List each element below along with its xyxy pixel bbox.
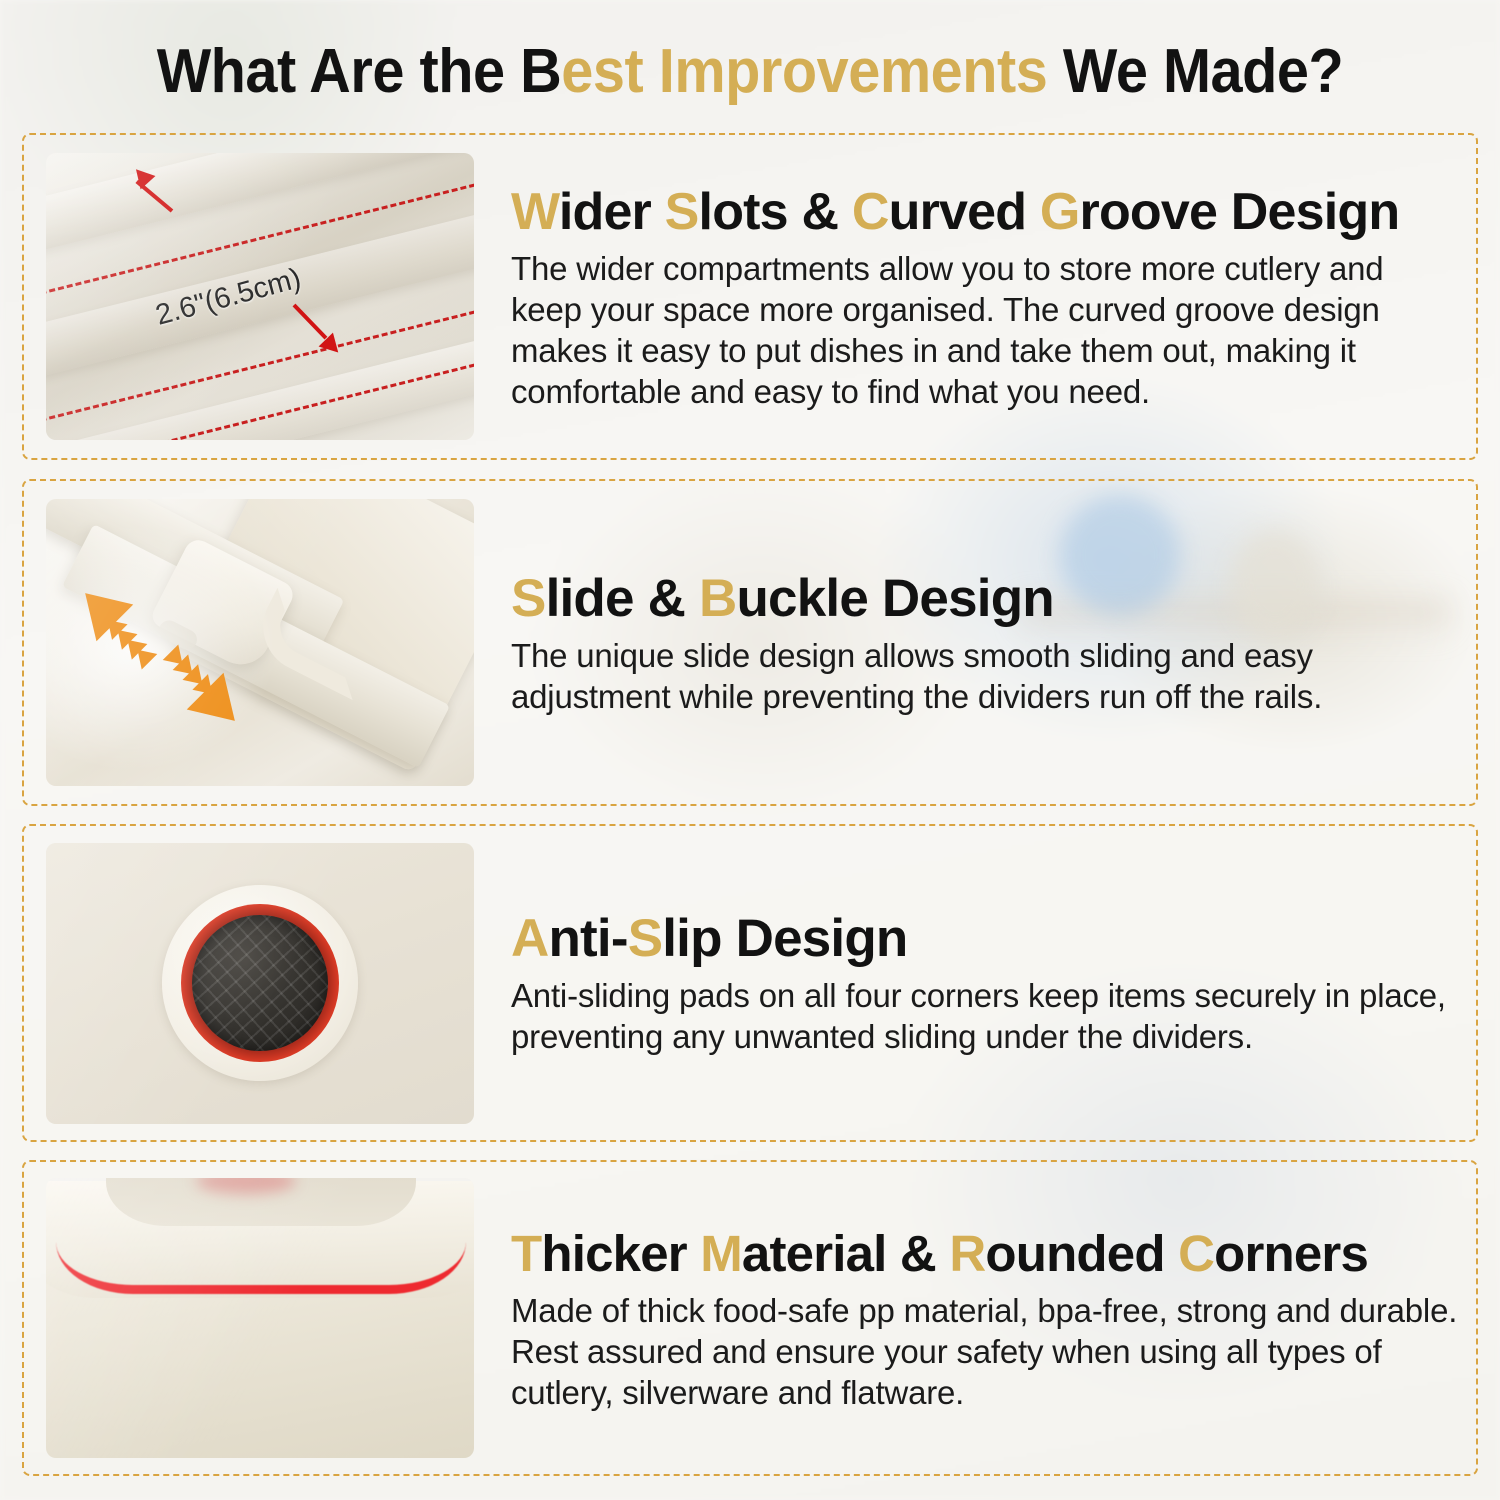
page-title-part-2: est Improvements	[561, 37, 1047, 106]
rounded-corner-illustration	[46, 1178, 474, 1458]
heading-text: orners	[1214, 1225, 1368, 1282]
heading-initial: S	[628, 909, 663, 968]
heading-text: urved	[889, 183, 1040, 241]
feature-image-slide-buckle	[46, 499, 474, 786]
slide-buckle-illustration	[46, 499, 474, 786]
feature-copy-anti-slip: Anti-Slip Design Anti-sliding pads on al…	[474, 909, 1476, 1057]
heading-text: uckle Design	[736, 569, 1053, 628]
feature-image-thicker-material	[46, 1178, 474, 1458]
feature-heading-wider-slots: Wider Slots & Curved Groove Design	[511, 182, 1462, 242]
heading-initial: S	[511, 569, 546, 628]
heading-initial: W	[511, 183, 559, 241]
heading-initial: S	[665, 183, 699, 241]
feature-section-thicker-material: Thicker Material & Rounded Corners Made …	[22, 1160, 1478, 1476]
feature-section-anti-slip: Anti-Slip Design Anti-sliding pads on al…	[22, 824, 1478, 1142]
feature-copy-thicker-material: Thicker Material & Rounded Corners Made …	[474, 1224, 1476, 1413]
feature-copy-slide-buckle: Slide & Buckle Design The unique slide d…	[474, 569, 1476, 717]
heading-initial: A	[511, 909, 548, 968]
heading-text: nti-	[548, 909, 627, 968]
heading-initial: C	[1178, 1225, 1214, 1282]
heading-text: lide &	[546, 569, 699, 628]
heading-text: roove Design	[1080, 183, 1400, 241]
feature-body-wider-slots: The wider compartments allow you to stor…	[511, 248, 1462, 412]
feature-section-slide-buckle: Slide & Buckle Design The unique slide d…	[22, 479, 1478, 806]
heading-text: ider	[559, 183, 665, 241]
feature-body-anti-slip: Anti-sliding pads on all four corners ke…	[511, 975, 1462, 1057]
heading-text: hicker	[541, 1225, 700, 1282]
feature-image-wider-slots: 2.6"(6.5cm)	[46, 153, 474, 440]
feature-heading-slide-buckle: Slide & Buckle Design	[511, 569, 1462, 629]
heading-initial: R	[949, 1225, 985, 1282]
feature-heading-thicker-material: Thicker Material & Rounded Corners	[511, 1224, 1462, 1284]
heading-initial: M	[700, 1225, 742, 1282]
pad-textured-core	[192, 915, 328, 1051]
feature-body-slide-buckle: The unique slide design allows smooth sl…	[511, 635, 1462, 717]
pad-outer-ring	[162, 885, 358, 1081]
thickness-highlight-line	[56, 1242, 466, 1294]
heading-text: lots &	[699, 183, 852, 241]
heading-text: lip Design	[662, 909, 907, 968]
heading-initial: C	[852, 183, 889, 241]
feature-copy-wider-slots: Wider Slots & Curved Groove Design The w…	[474, 182, 1476, 412]
page-title-part-1: What Are the B	[157, 37, 562, 106]
feature-body-thicker-material: Made of thick food-safe pp material, bpa…	[511, 1290, 1462, 1413]
feature-section-wider-slots: 2.6"(6.5cm) Wider Slots & Curved Groove …	[22, 133, 1478, 460]
anti-slip-pad-illustration	[46, 843, 474, 1124]
heading-initial: G	[1040, 183, 1080, 241]
tray-slots-illustration: 2.6"(6.5cm)	[46, 153, 474, 440]
heading-text: ounded	[985, 1225, 1178, 1282]
infographic-page: What Are the Best Improvements We Made? …	[0, 0, 1500, 1500]
page-title: What Are the Best Improvements We Made?	[53, 36, 1448, 108]
heading-initial: B	[699, 569, 736, 628]
feature-heading-anti-slip: Anti-Slip Design	[511, 909, 1462, 969]
feature-image-anti-slip	[46, 843, 474, 1124]
heading-text: aterial &	[742, 1225, 949, 1282]
heading-initial: T	[511, 1225, 541, 1282]
page-title-part-3: We Made?	[1047, 37, 1343, 106]
